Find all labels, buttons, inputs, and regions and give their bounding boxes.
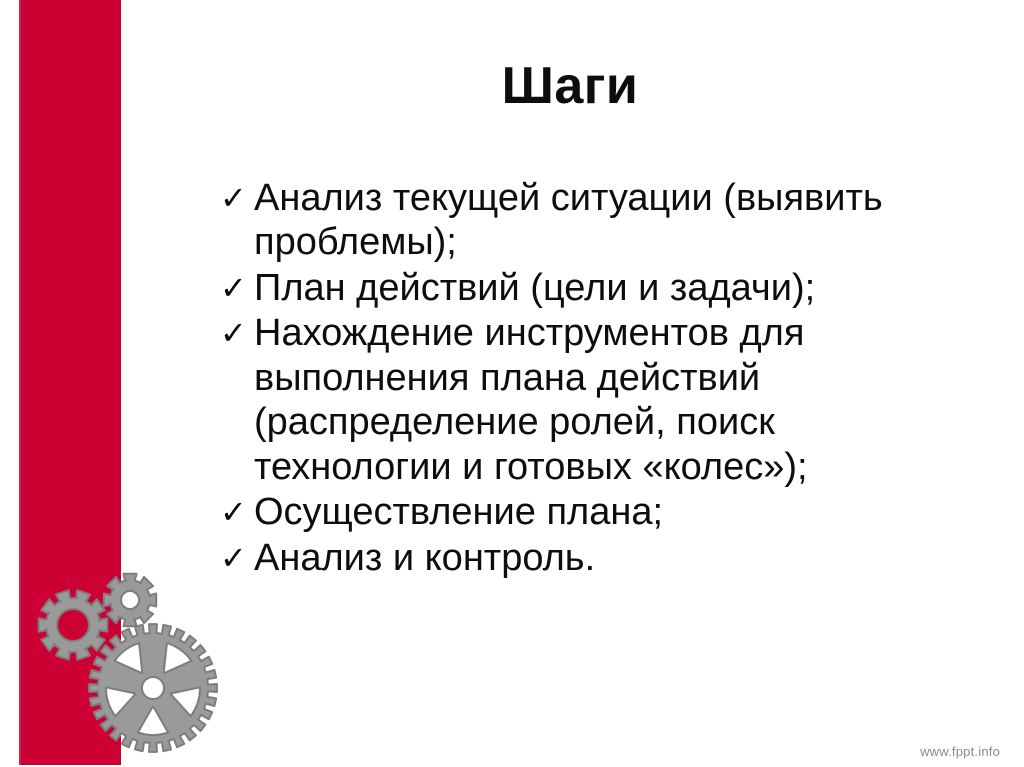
list-item-label: План действий (цели и задачи); [254, 266, 978, 310]
list-item: ✓ Анализ и контроль. [218, 536, 978, 580]
page-title: Шаги [140, 58, 1000, 115]
list-item: ✓ План действий (цели и задачи); [218, 266, 978, 310]
steps-list: ✓ Анализ текущей ситуации (выявить пробл… [218, 176, 978, 581]
check-icon: ✓ [220, 490, 250, 534]
check-icon: ✓ [220, 266, 250, 310]
list-item-label: Анализ текущей ситуации (выявить проблем… [254, 176, 978, 265]
list-item-label: Нахождение инструментов для выполнения п… [254, 311, 978, 489]
footer-watermark: www.fppt.info [920, 744, 1000, 759]
check-icon: ✓ [220, 311, 250, 355]
list-item-label: Осуществление плана; [254, 490, 978, 534]
check-icon: ✓ [220, 536, 250, 580]
slide-canvas: Шаги ✓ Анализ текущей ситуации (выявить … [0, 0, 1024, 767]
left-red-accent-band [21, 0, 121, 765]
list-item: ✓ Осуществление плана; [218, 490, 978, 534]
list-item: ✓ Нахождение инструментов для выполнения… [218, 311, 978, 489]
list-item: ✓ Анализ текущей ситуации (выявить пробл… [218, 176, 978, 265]
list-item-label: Анализ и контроль. [254, 536, 978, 580]
check-icon: ✓ [220, 176, 250, 220]
